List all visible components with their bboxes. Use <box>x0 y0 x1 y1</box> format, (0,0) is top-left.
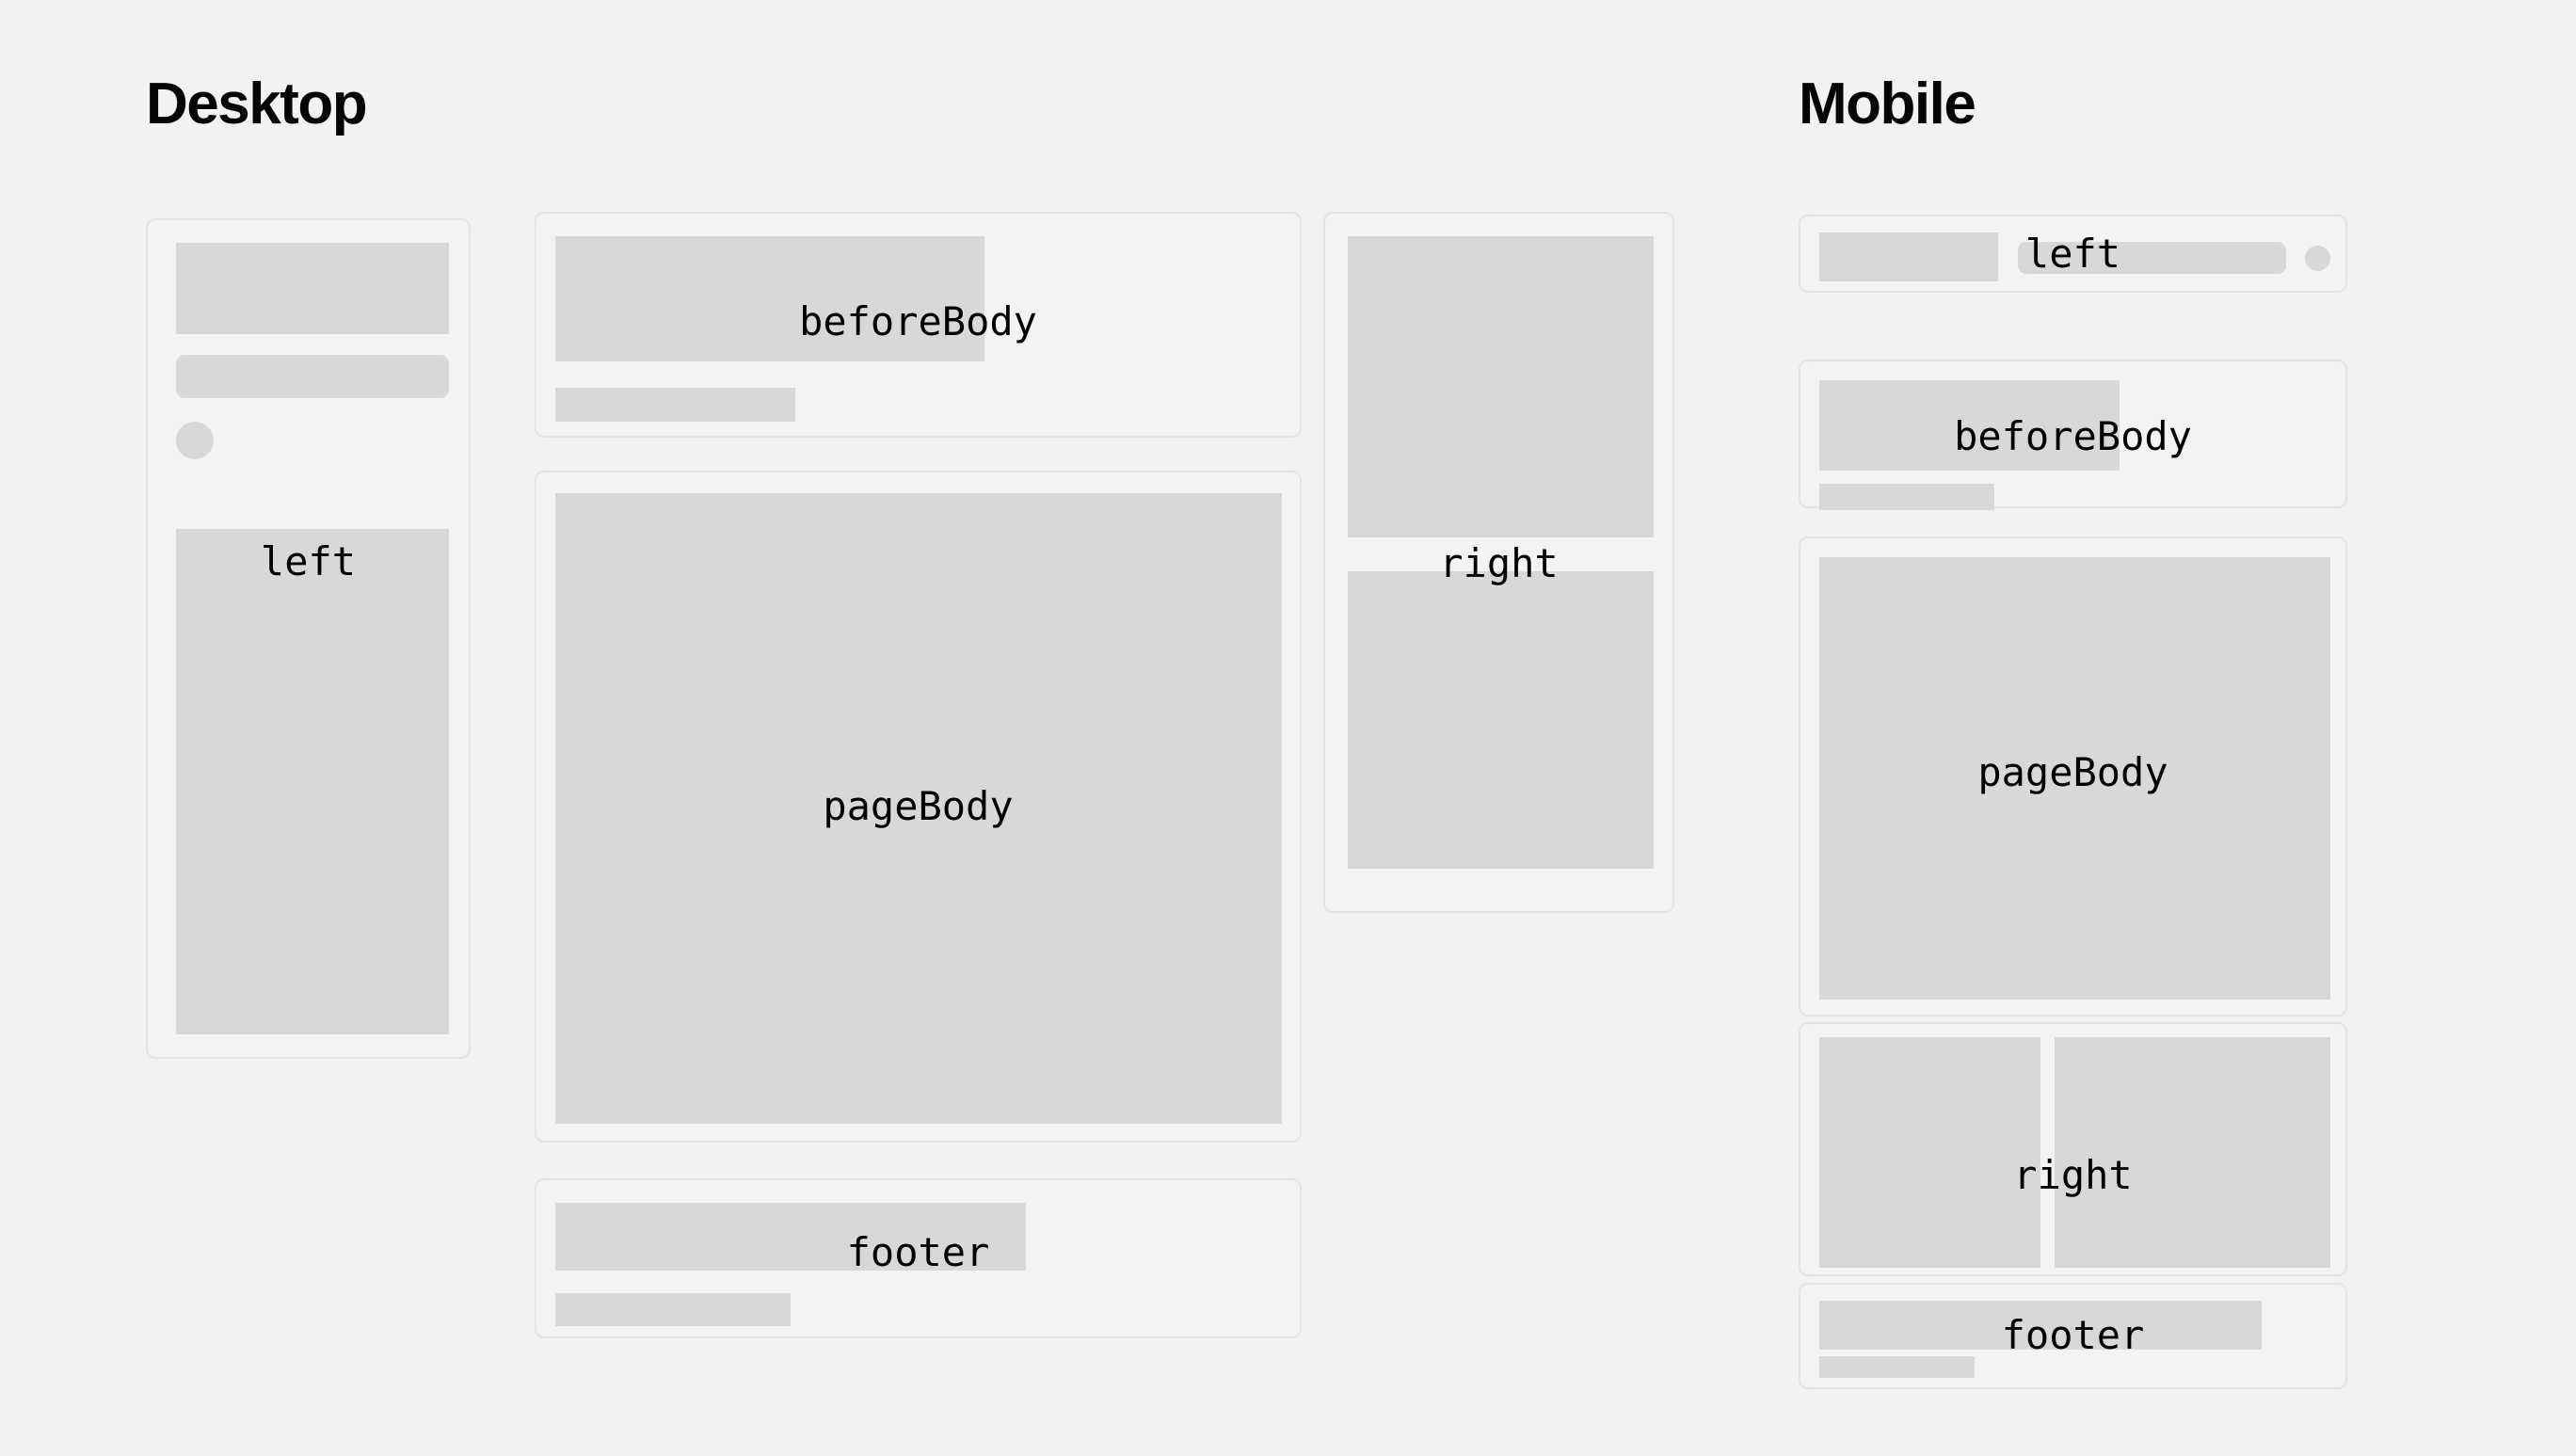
mobile-beforebody-region[interactable] <box>1799 360 2347 508</box>
placeholder-block <box>555 236 984 361</box>
placeholder-block <box>176 243 449 334</box>
placeholder-dot <box>2305 246 2330 271</box>
mobile-section-title: Mobile <box>1799 75 1975 134</box>
placeholder-bar <box>1819 1356 1975 1378</box>
placeholder-bar <box>555 1293 791 1326</box>
placeholder-block <box>555 493 1282 1124</box>
placeholder-block <box>555 1203 1026 1271</box>
mobile-right-region[interactable] <box>1799 1022 2347 1276</box>
responsive-layout-preview: Desktop left beforeBody pageBody footer … <box>0 0 2576 1456</box>
desktop-footer-region[interactable] <box>535 1178 1302 1338</box>
placeholder-block <box>2055 1037 2330 1268</box>
desktop-left-region[interactable] <box>146 218 471 1059</box>
placeholder-block <box>1819 232 1998 281</box>
placeholder-bar <box>555 388 795 422</box>
placeholder-block <box>1348 236 1654 537</box>
placeholder-block <box>176 529 449 1034</box>
desktop-pagebody-region[interactable] <box>535 471 1302 1143</box>
mobile-left-region[interactable] <box>1799 215 2347 293</box>
placeholder-bar <box>176 355 449 398</box>
placeholder-block <box>1348 571 1654 869</box>
placeholder-bar <box>2018 242 2286 274</box>
placeholder-block <box>1819 1037 2040 1268</box>
placeholder-dot <box>176 422 214 459</box>
mobile-pagebody-region[interactable] <box>1799 536 2347 1016</box>
placeholder-block <box>1819 1301 2262 1350</box>
placeholder-block <box>1819 380 2120 471</box>
placeholder-block <box>1819 557 2330 1000</box>
desktop-right-region[interactable] <box>1323 212 1674 913</box>
desktop-section-title: Desktop <box>146 75 366 134</box>
mobile-footer-region[interactable] <box>1799 1283 2347 1389</box>
desktop-beforebody-region[interactable] <box>535 212 1302 438</box>
placeholder-bar <box>1819 484 1994 510</box>
